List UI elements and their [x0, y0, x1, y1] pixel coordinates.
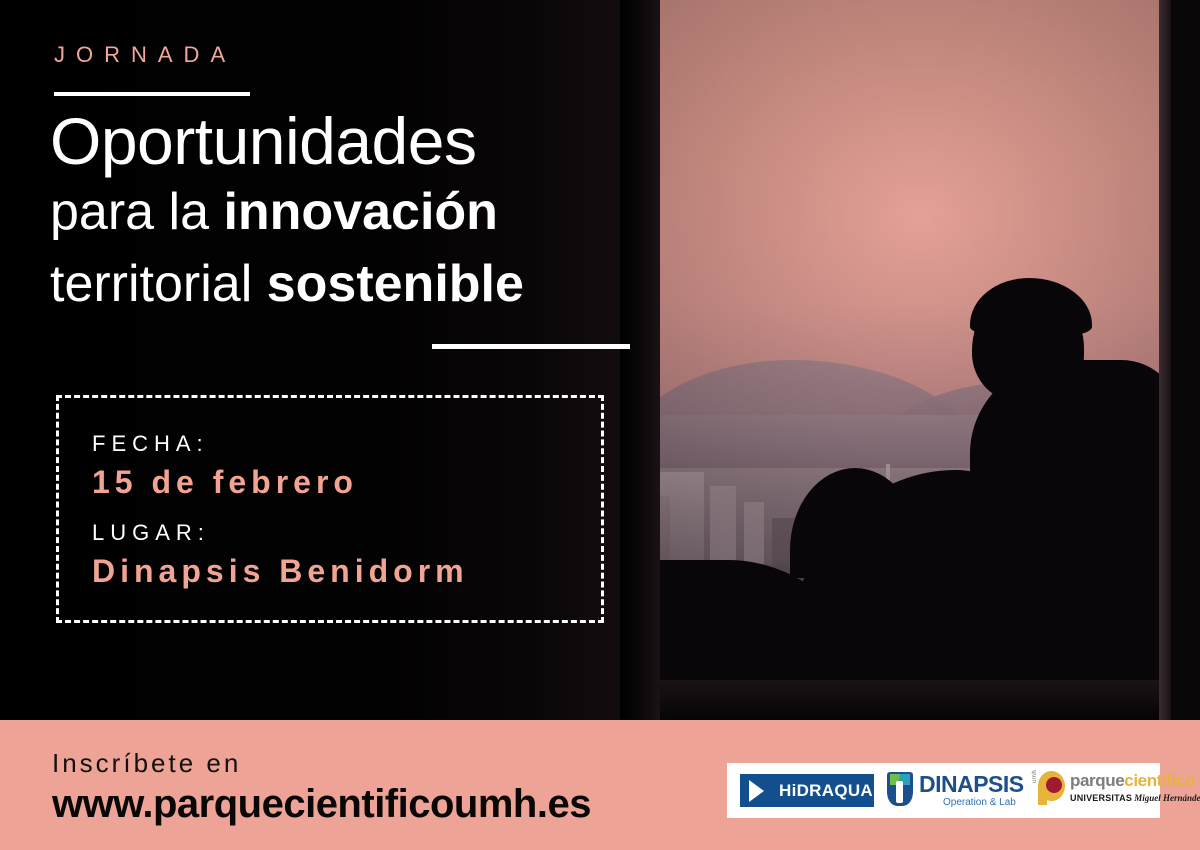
- event-info-box: FECHA: 15 de febrero LUGAR: Dinapsis Ben…: [56, 395, 604, 623]
- page-title-line-2: para la innovación: [50, 186, 498, 238]
- place-value: Dinapsis Benidorm: [92, 553, 469, 590]
- date-label: FECHA:: [92, 431, 209, 457]
- kicker-rule: [54, 92, 250, 96]
- logo-parque-side-text: umh: [1032, 770, 1038, 783]
- footer-website-url[interactable]: www.parquecientificoumh.es: [52, 782, 591, 827]
- logo-hidraqua[interactable]: HiDRAQUA: [740, 774, 874, 807]
- window-sill: [660, 680, 1160, 720]
- logo-dinapsis-label: DINAPSIS: [919, 771, 1024, 798]
- window-frame-right: [1171, 0, 1200, 720]
- title-line-2-bold: innovación: [223, 183, 497, 241]
- page-title-line-1: Oportunidades: [50, 108, 476, 174]
- place-label: LUGAR:: [92, 520, 210, 546]
- shield-icon: [887, 772, 913, 806]
- logo-parque-sub2: Miguel Hernández: [1132, 793, 1200, 803]
- title-rule: [432, 344, 630, 349]
- title-line-3-light: territorial: [50, 255, 267, 313]
- logo-parque-cientifico[interactable]: umh parquecientífico UNIVERSITAS Miguel …: [1032, 769, 1158, 813]
- title-line-2-light: para la: [50, 183, 223, 241]
- sponsor-logo-panel: HiDRAQUA DINAPSIS Operation & Lab umh pa…: [727, 763, 1160, 818]
- logo-parque-wordmark: parquecientífico: [1070, 771, 1195, 791]
- page-title-line-3: territorial sostenible: [50, 258, 524, 310]
- title-line-3-bold: sostenible: [267, 255, 524, 313]
- window-frame-mullion: [1159, 0, 1171, 720]
- logo-parque-word1: parque: [1070, 771, 1124, 790]
- hero-photo: [640, 0, 1200, 720]
- logo-parque-sub1: UNIVERSITAS: [1070, 793, 1132, 803]
- kicker-label: JORNADA: [54, 42, 236, 68]
- footer-band: Inscríbete en www.parquecientificoumh.es…: [0, 720, 1200, 850]
- logo-parque-subtitle: UNIVERSITAS Miguel Hernández: [1070, 793, 1200, 803]
- logo-dinapsis-subtitle: Operation & Lab: [943, 797, 1016, 808]
- play-triangle-icon: [749, 780, 771, 802]
- poster-canvas: JORNADA Oportunidades para la innovación…: [0, 0, 1200, 850]
- logo-dinapsis[interactable]: DINAPSIS Operation & Lab: [887, 769, 1027, 813]
- logo-parque-word2: científico: [1124, 771, 1195, 790]
- footer-prompt: Inscríbete en: [52, 748, 241, 779]
- date-value: 15 de febrero: [92, 464, 358, 501]
- logo-hidraqua-label: HiDRAQUA: [779, 781, 873, 801]
- letter-p-icon: umh: [1032, 771, 1066, 805]
